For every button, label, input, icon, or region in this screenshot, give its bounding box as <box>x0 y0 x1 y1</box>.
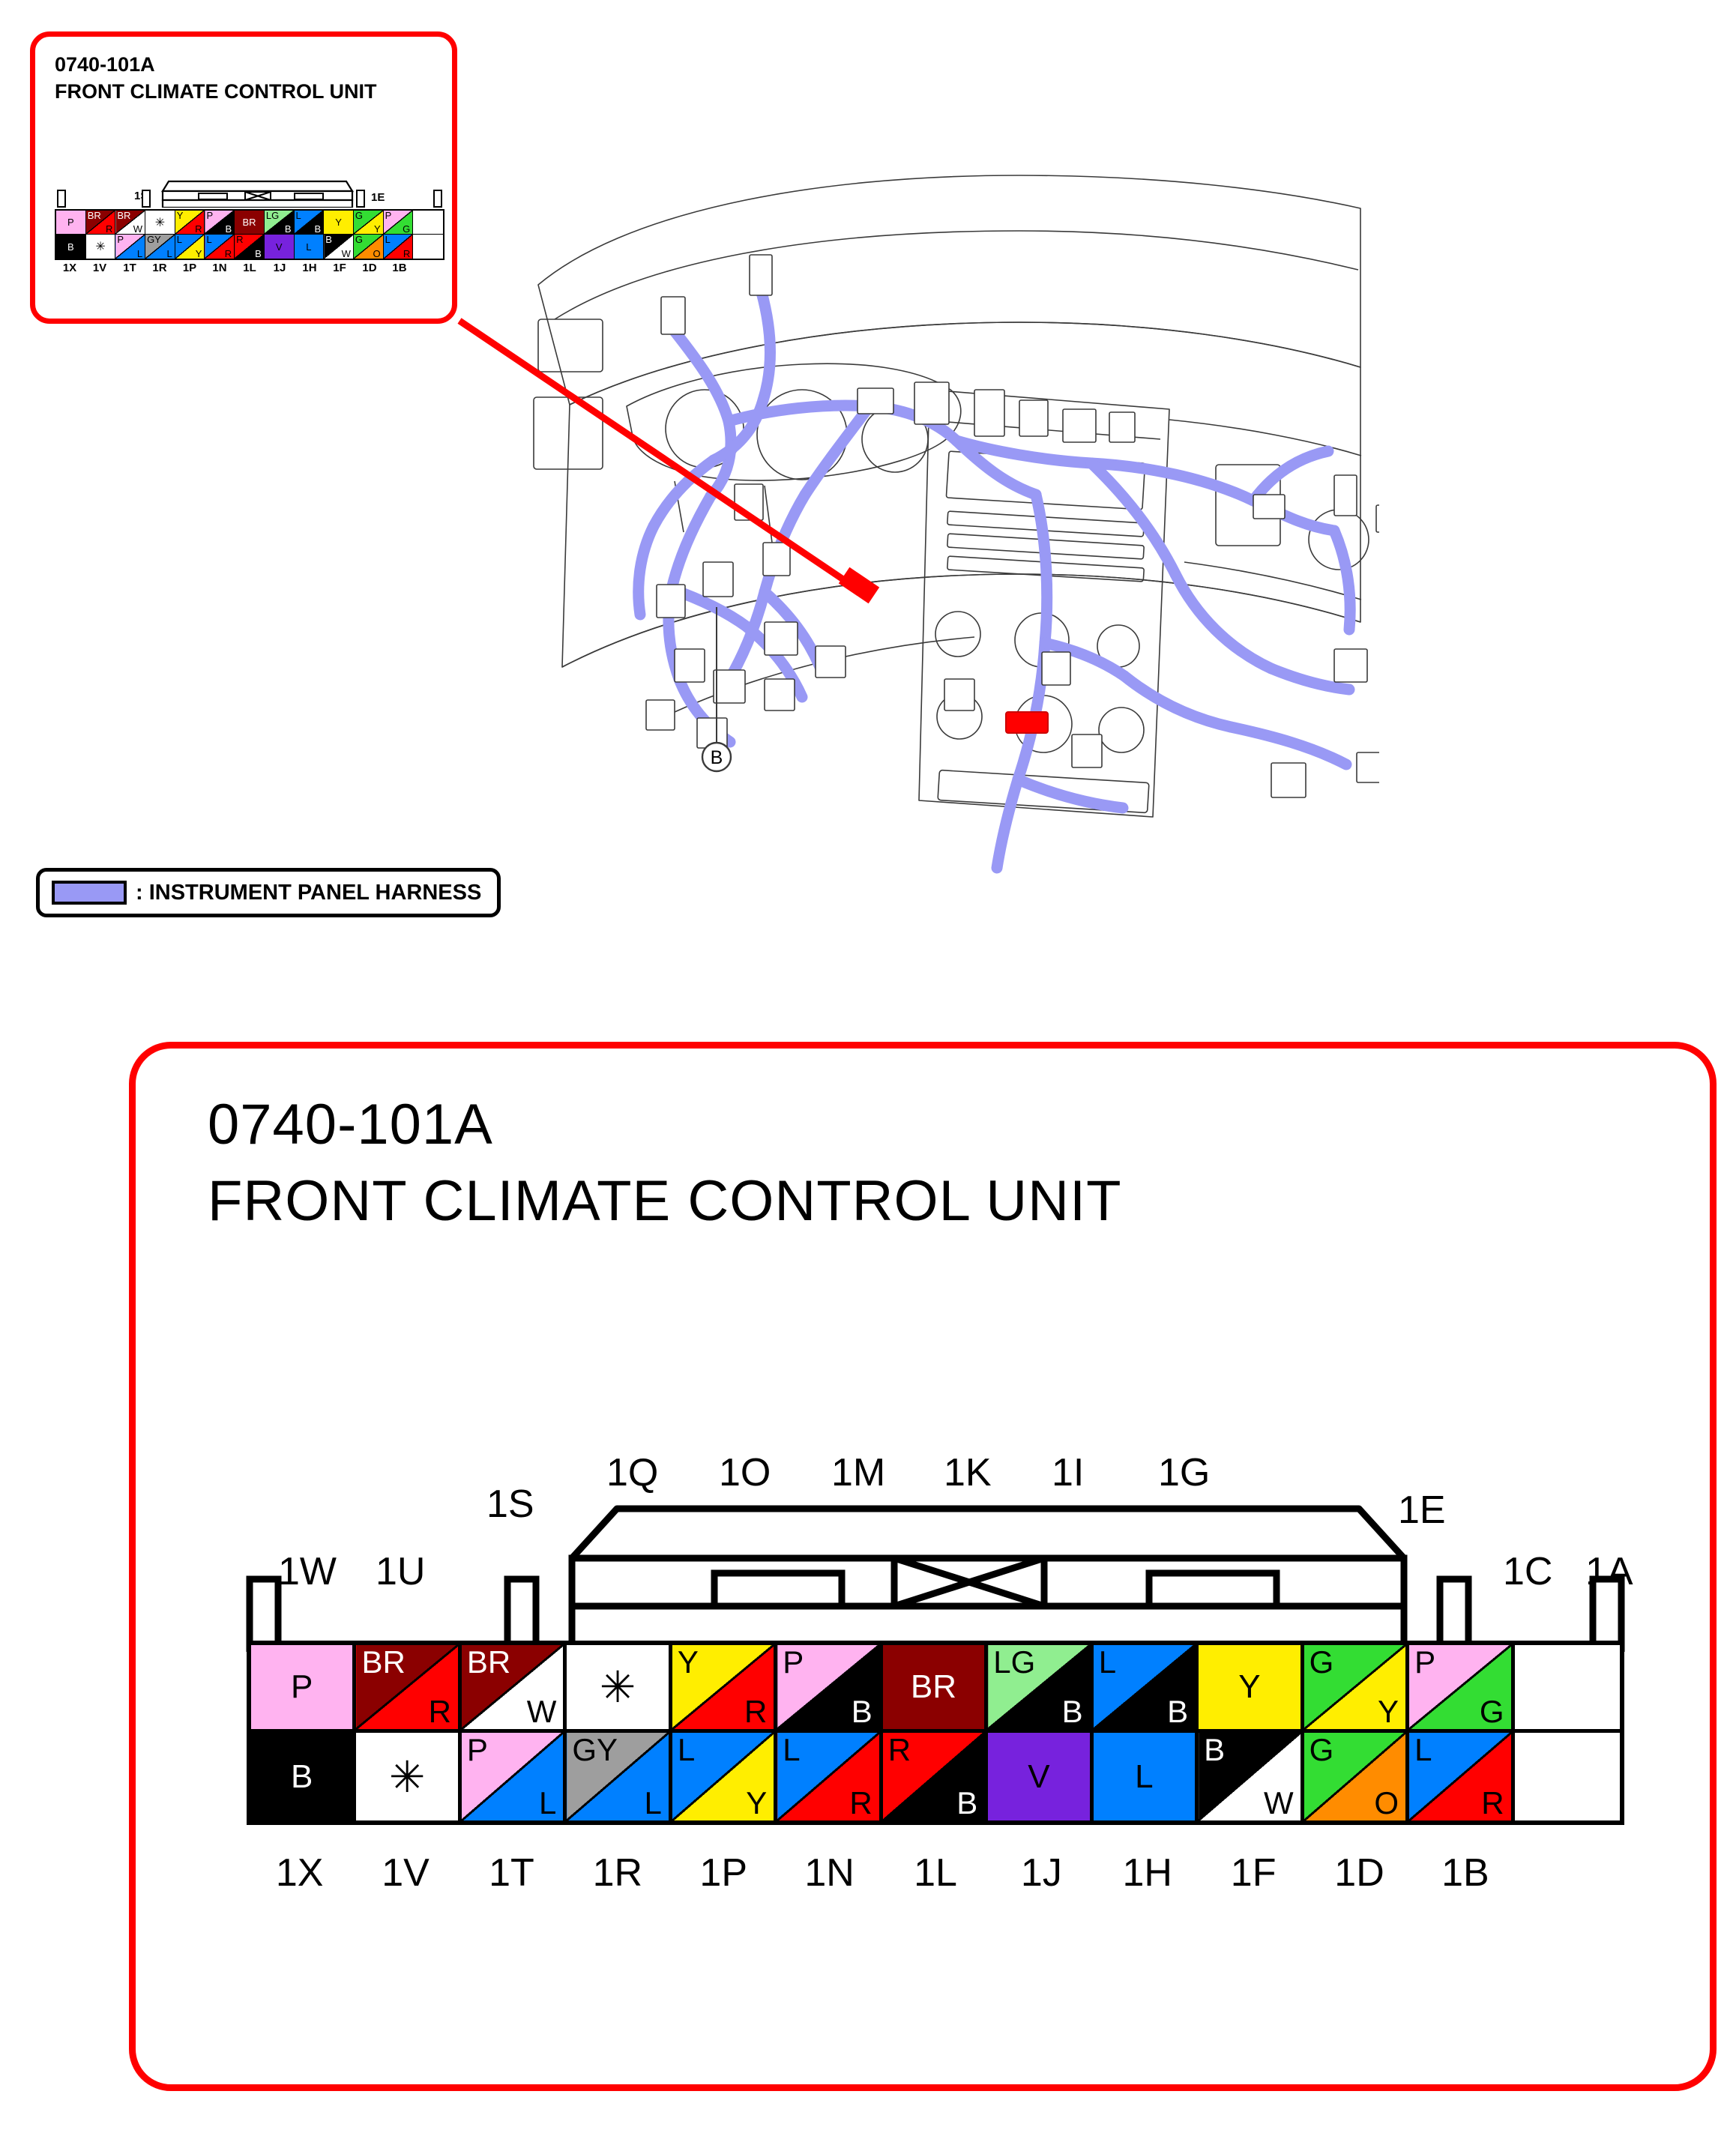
pin-cell-r0-c11: PG <box>1409 1645 1514 1733</box>
pin-wire-code-secondary: R <box>1481 1788 1504 1819</box>
pin-cell-r0-c3: ✳ <box>145 211 175 235</box>
pin-cell-r0-c6: BR <box>235 211 265 235</box>
tab-1w <box>250 1579 278 1650</box>
pin-cell-r1-c5: LR <box>205 235 235 259</box>
bottom-pin-label-1x: 1X <box>247 1843 352 1903</box>
pin-wire-code-secondary: Y <box>196 249 202 259</box>
pin-cell-r0-c2: BRW <box>462 1645 567 1733</box>
pin-cell-r0-c3: ✳ <box>567 1645 672 1733</box>
pin-wire-code-secondary: W <box>133 224 142 234</box>
pin-wire-code-secondary: R <box>225 249 232 259</box>
inset-bottom-pin-label-1t: 1T <box>115 262 145 277</box>
pin-wire-code: BR <box>235 211 264 234</box>
pin-wire-code-primary: L <box>206 235 211 244</box>
inset-part-code: 0740-101A <box>55 53 155 76</box>
pin-cell-r1-c4: LY <box>672 1733 777 1820</box>
pin-wire-code-secondary: L <box>137 249 142 259</box>
pin-cell-r0-c7: LGB <box>265 211 295 235</box>
pin-cell-r1-c8: L <box>1094 1733 1199 1820</box>
bottom-pin-label-1f: 1F <box>1200 1843 1306 1903</box>
pin-wire-code-primary: BR <box>88 211 101 220</box>
pin-wire-code: V <box>988 1733 1089 1820</box>
bottom-pin-label-1d: 1D <box>1306 1843 1412 1903</box>
pin-wire-code-secondary: L <box>167 249 172 259</box>
pin-wire-code-primary: Y <box>678 1647 699 1678</box>
pin-wire-code-primary: L <box>385 235 391 244</box>
pin-cell-r1-c7: V <box>988 1733 1093 1820</box>
target-connector-marker <box>1006 712 1048 733</box>
pin-wire-code-secondary: R <box>849 1788 872 1819</box>
pin-cell-r0-c11: PG <box>384 211 414 235</box>
pin-wire-code-primary: BR <box>117 211 130 220</box>
wiring-diagram-page: 0740-101A FRONT CLIMATE CONTROL UNIT 1W1… <box>0 0 1736 2154</box>
inset-bottom-pin-labels: 1X1V1T1R1P1N1L1J1H1F1D1B <box>55 262 444 277</box>
bottom-pin-label-1t: 1T <box>459 1843 564 1903</box>
inset-tab-1a <box>433 190 442 208</box>
pin-wire-code-primary: G <box>355 235 363 244</box>
pin-cell-r0-c4: YR <box>175 211 205 235</box>
inset-bottom-pin-label-spacer <box>415 262 444 277</box>
inset-part-name: FRONT CLIMATE CONTROL UNIT <box>55 80 376 103</box>
pin-wire-code-primary: LG <box>266 211 279 220</box>
pin-wire-code-secondary: B <box>225 224 232 234</box>
pin-wire-code-primary: P <box>1414 1647 1435 1678</box>
pin-wire-code-primary: P <box>117 235 124 244</box>
pin-cell-r0-c0: P <box>251 1645 356 1733</box>
pin-wire-code: ✳ <box>86 235 115 259</box>
pin-wire-code-primary: L <box>783 1734 800 1766</box>
harness-legend-label: : INSTRUMENT PANEL HARNESS <box>136 881 481 905</box>
pin-wire-code-primary: G <box>1309 1734 1334 1766</box>
pin-cell-r1-c2: PL <box>115 235 145 259</box>
pin-wire-code: ✳ <box>567 1645 668 1729</box>
pin-cell-r0-c2: BRW <box>115 211 145 235</box>
pin-wire-code-secondary: B <box>315 224 322 234</box>
pin-cell-r1-c4: LY <box>175 235 205 259</box>
pin-wire-code: P <box>251 1645 352 1729</box>
pin-cell-r0-c0: P <box>56 211 86 235</box>
pin-wire-code-primary: P <box>385 211 392 220</box>
pin-wire-code-primary: R <box>888 1734 911 1766</box>
pin-wire-code-primary: P <box>783 1647 804 1678</box>
bottom-pin-label-1r: 1R <box>564 1843 670 1903</box>
pin-wire-code-primary: L <box>177 235 182 244</box>
page-title-name: FRONT CLIMATE CONTROL UNIT <box>208 1168 1122 1234</box>
pin-cell-r1-c3: GYL <box>145 235 175 259</box>
pin-cell-r0-c9: Y <box>324 211 354 235</box>
bottom-pin-label-1l: 1L <box>882 1843 988 1903</box>
pin-cell-r1-c10: GO <box>354 235 384 259</box>
pin-wire-code-primary: R <box>236 235 243 244</box>
bottom-pin-label-1h: 1H <box>1094 1843 1200 1903</box>
pin-wire-code: V <box>265 235 294 259</box>
pin-cell-r1-c1: ✳ <box>86 235 116 259</box>
pin-wire-code: ✳ <box>145 211 175 234</box>
inset-bottom-pin-label-1b: 1B <box>385 262 415 277</box>
pin-wire-code: L <box>1094 1733 1195 1820</box>
pin-cell-r0-c1: BRR <box>356 1645 461 1733</box>
pin-wire-code: Y <box>1199 1645 1300 1729</box>
pin-cell-r0-c4: YR <box>672 1645 777 1733</box>
inset-connector-thumbnail: 1W1U1S1Q1O1M1K1I1G1E1C1A <box>47 164 452 314</box>
pin-cell-r1-c8: L <box>295 235 325 259</box>
page-title-code: 0740-101A <box>208 1092 493 1157</box>
bottom-pin-label-row: 1X1V1T1R1P1N1L1J1H1F1D1B <box>247 1843 1624 1903</box>
pin-cell-r1-c0: B <box>251 1733 356 1820</box>
pin-wire-code-secondary: O <box>373 249 380 259</box>
pin-wire-code-secondary: O <box>1374 1788 1399 1819</box>
pin-wire-code: B <box>251 1733 352 1820</box>
bottom-pin-label-1v: 1V <box>352 1843 458 1903</box>
pin-wire-code-primary: L <box>1414 1734 1432 1766</box>
inset-bottom-pin-label-1p: 1P <box>175 262 205 277</box>
bottom-pin-label-1p: 1P <box>671 1843 777 1903</box>
connector-pinout-diagram: 1W1U1S1Q1O1M1K1I1G1E1C1A <box>190 1416 1681 1963</box>
pin-cell-r0-c9: Y <box>1199 1645 1303 1733</box>
inset-bottom-pin-label-1j: 1J <box>265 262 295 277</box>
pin-wire-code-secondary: R <box>403 249 410 259</box>
inset-pin-grid: PBRRBRW✳YRPBBRLGBLBYGYPGB✳PLGYLLYLRRBVLB… <box>55 209 444 260</box>
pin-cell-r0-c12 <box>1515 1645 1620 1733</box>
pin-cell-r1-c7: V <box>265 235 295 259</box>
bottom-pin-label-1j: 1J <box>989 1843 1094 1903</box>
pin-wire-code-secondary: W <box>342 249 351 259</box>
pin-cell-r1-c12 <box>1515 1733 1620 1820</box>
pin-wire-code-primary: LG <box>993 1647 1035 1678</box>
pin-wire-code: B <box>56 235 85 259</box>
pin-cell-r0-c10: GY <box>354 211 384 235</box>
pin-cell-r1-c6: RB <box>235 235 265 259</box>
pin-wire-code-primary: G <box>355 211 363 220</box>
pin-wire-code-secondary: B <box>956 1788 977 1819</box>
pin-wire-code: P <box>56 211 85 234</box>
pin-wire-code-primary: BR <box>467 1647 510 1678</box>
pin-wire-code-primary: P <box>206 211 213 220</box>
pin-wire-code-secondary: Y <box>374 224 381 234</box>
tab-1s <box>507 1579 536 1650</box>
pin-cell-r0-c1: BRR <box>86 211 116 235</box>
inset-tab-1e <box>356 190 365 208</box>
inset-bottom-pin-label-1v: 1V <box>85 262 115 277</box>
inset-bottom-pin-label-1l: 1L <box>235 262 265 277</box>
pin-wire-code-secondary: B <box>1167 1696 1188 1728</box>
inset-bottom-pin-label-1r: 1R <box>145 262 175 277</box>
pin-wire-code-primary: BR <box>361 1647 405 1678</box>
bottom-pin-label-1b: 1B <box>1412 1843 1518 1903</box>
inset-bottom-pin-label-1d: 1D <box>355 262 385 277</box>
pin-wire-code-secondary: G <box>1480 1696 1504 1728</box>
inset-bottom-pin-label-1f: 1F <box>325 262 355 277</box>
pin-wire-code: Y <box>324 211 353 234</box>
pin-wire-code-primary: GY <box>572 1734 618 1766</box>
pin-cell-r1-c0: B <box>56 235 86 259</box>
tab-1a <box>1593 1579 1621 1650</box>
pin-wire-code-secondary: Y <box>1378 1696 1399 1728</box>
pin-wire-code-secondary: B <box>285 224 292 234</box>
pin-wire-code-primary: P <box>467 1734 488 1766</box>
pin-cell-r1-c9: BW <box>324 235 354 259</box>
svg-text:B: B <box>711 747 723 768</box>
pin-cell-r0-c8: LB <box>1094 1645 1199 1733</box>
pin-wire-code-secondary: L <box>644 1788 661 1819</box>
pin-wire-code-primary: B <box>325 235 332 244</box>
pin-cell-r1-c11: LR <box>384 235 414 259</box>
connector-pin-grid: PBRRBRW✳YRPBBRLGBLBYGYPGB✳PLGYLLYLRRBVLB… <box>247 1641 1624 1825</box>
pin-cell-r0-c8: LB <box>295 211 325 235</box>
pin-cell-r0-c5: PB <box>777 1645 882 1733</box>
pin-wire-code-secondary: R <box>744 1696 767 1728</box>
pin-wire-code-secondary: W <box>1264 1788 1294 1819</box>
pin-wire-code-secondary: B <box>1062 1696 1083 1728</box>
bottom-pin-label-spacer <box>1519 1843 1624 1903</box>
pin-wire-code-secondary: Y <box>746 1788 767 1819</box>
pin-wire-code-primary: G <box>1309 1647 1334 1678</box>
tab-1e <box>1440 1579 1468 1650</box>
inset-connector-housing <box>161 180 354 208</box>
pin-cell-r0-c10: GY <box>1304 1645 1409 1733</box>
inset-tab-1s <box>142 190 151 208</box>
pin-cell-r1-c11: LR <box>1409 1733 1514 1820</box>
pin-wire-code-secondary: B <box>255 249 262 259</box>
pin-wire-code-secondary: R <box>429 1696 451 1728</box>
pin-cell-r1-c3: GYL <box>567 1733 672 1820</box>
pin-cell-r0-c12 <box>413 211 443 235</box>
connector-housing <box>190 1461 1681 1652</box>
pin-wire-code-primary: L <box>678 1734 695 1766</box>
pin-wire-code-secondary: W <box>527 1696 557 1728</box>
pin-cell-r1-c1: ✳ <box>356 1733 461 1820</box>
bottom-pin-label-1n: 1N <box>777 1843 882 1903</box>
pin-cell-r1-c2: PL <box>462 1733 567 1820</box>
pin-wire-code-secondary: R <box>195 224 202 234</box>
pin-wire-code-primary: L <box>1099 1647 1116 1678</box>
pin-wire-code-secondary: L <box>539 1788 556 1819</box>
pin-wire-code-primary: L <box>296 211 301 220</box>
inset-top-pin-label-1e: 1E <box>371 191 385 204</box>
pin-wire-code: ✳ <box>356 1733 457 1820</box>
pin-wire-code-secondary: R <box>106 224 112 234</box>
pin-cell-r0-c5: PB <box>205 211 235 235</box>
pin-wire-code-primary: Y <box>177 211 184 220</box>
dashboard-illustration: B <box>450 142 1379 884</box>
pin-wire-code-primary: B <box>1204 1734 1225 1766</box>
inset-callout-box: 0740-101A FRONT CLIMATE CONTROL UNIT 1W1… <box>30 31 457 324</box>
inset-bottom-pin-label-1h: 1H <box>295 262 325 277</box>
pin-cell-r1-c12 <box>413 235 443 259</box>
pin-wire-code: L <box>295 235 324 259</box>
pin-wire-code-primary: GY <box>147 235 161 244</box>
pin-wire-code-secondary: B <box>852 1696 872 1728</box>
inset-tab-1w <box>57 190 66 208</box>
pin-cell-r0-c7: LGB <box>988 1645 1093 1733</box>
harness-legend-box: : INSTRUMENT PANEL HARNESS <box>36 868 501 917</box>
main-connector-panel: 0740-101A FRONT CLIMATE CONTROL UNIT 1W1… <box>129 1042 1717 2091</box>
pin-cell-r1-c6: RB <box>883 1733 988 1820</box>
harness-color-swatch <box>52 881 127 905</box>
pin-wire-code-secondary: G <box>403 224 410 234</box>
pin-cell-r1-c5: LR <box>777 1733 882 1820</box>
pin-cell-r0-c6: BR <box>883 1645 988 1733</box>
inset-bottom-pin-label-1n: 1N <box>205 262 235 277</box>
inset-bottom-pin-label-1x: 1X <box>55 262 85 277</box>
pin-wire-code: BR <box>883 1645 984 1729</box>
pin-cell-r1-c10: GO <box>1304 1733 1409 1820</box>
pin-cell-r1-c9: BW <box>1199 1733 1303 1820</box>
